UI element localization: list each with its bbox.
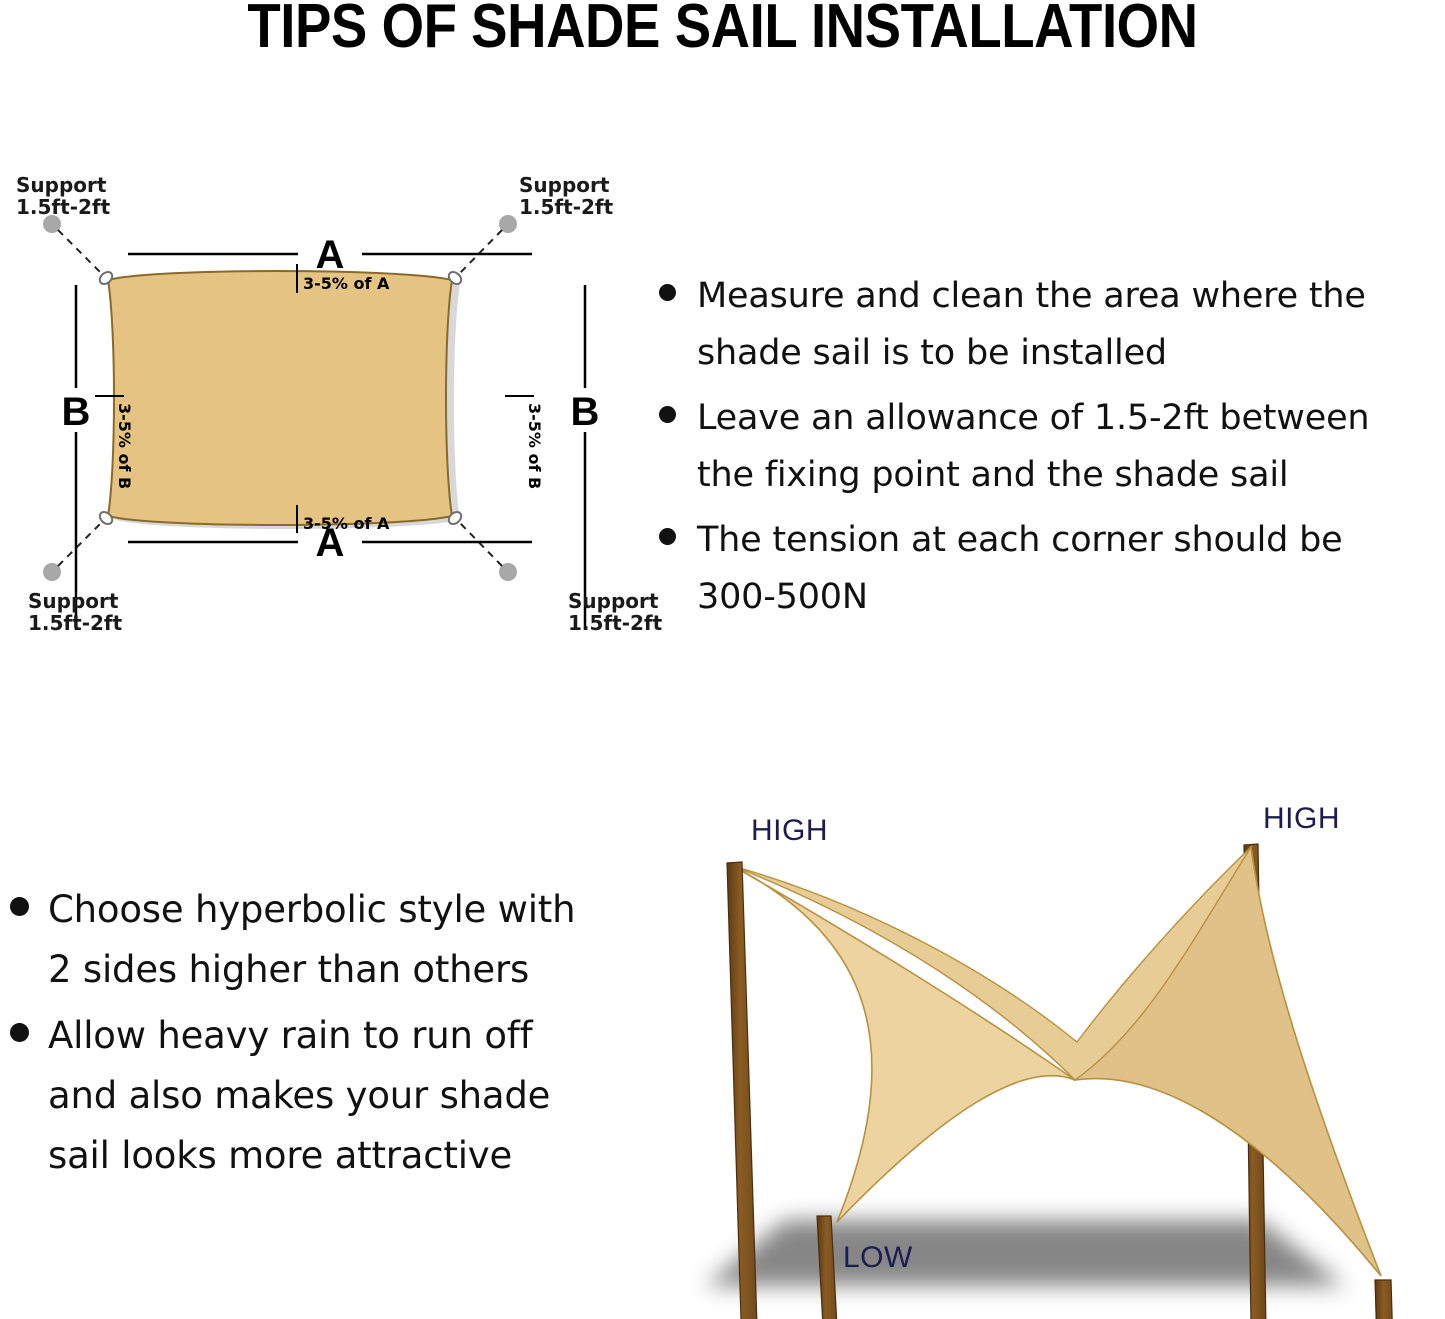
- ground-shadow: [705, 1220, 1345, 1286]
- list-item-line: Leave an allowance of 1.5-2ft between: [697, 390, 1445, 447]
- list-item-line: 2 sides higher than others: [48, 940, 630, 1000]
- rect-diagram-svg: A 3-5% of A A 3-5% of A B 3-5% of B B 3-…: [0, 160, 660, 730]
- support-label-bottom-left-line2: 1.5ft-2ft: [28, 611, 123, 635]
- list-item-line: and also makes your shade: [48, 1066, 630, 1126]
- bullet-dot-icon: [10, 897, 29, 916]
- dimension-b-right-label: B: [571, 390, 600, 434]
- list-item-line: shade sail is to be installed: [697, 325, 1445, 382]
- support-label-top-right-line2: 1.5ft-2ft: [519, 195, 614, 219]
- support-line-top-right: [460, 230, 502, 273]
- support-label-bottom-left-line1: Support: [28, 589, 119, 613]
- list-item-line: sail looks more attractive: [48, 1126, 630, 1186]
- list-item-line: the fixing point and the shade sail: [697, 447, 1445, 504]
- label-high-right: HIGH: [1263, 802, 1340, 835]
- hyperbolic-style-tips-list: Choose hyperbolic style with 2 sides hig…: [0, 880, 630, 1186]
- page-title: TIPS OF SHADE SAIL INSTALLATION: [87, 0, 1359, 58]
- hyperbolic-style-tips-panel: Choose hyperbolic style with 2 sides hig…: [0, 880, 630, 1210]
- list-item: Measure and clean the area where the sha…: [645, 268, 1445, 382]
- list-item-line: Choose hyperbolic style with: [48, 880, 630, 940]
- sail-lobe-left: [733, 866, 1075, 1222]
- curve-b-right-note: 3-5% of B: [525, 403, 544, 489]
- hyper-diagram-svg: HIGH HIGH LOW LOW: [645, 780, 1445, 1319]
- label-low-left: LOW: [843, 1241, 913, 1274]
- list-item-line: 300-500N: [697, 569, 1445, 626]
- post-low-right: [1375, 1280, 1397, 1319]
- label-high-left: HIGH: [751, 814, 828, 847]
- list-item: Choose hyperbolic style with 2 sides hig…: [0, 880, 630, 1000]
- list-item-line: Measure and clean the area where the: [697, 268, 1445, 325]
- list-item-line: Allow heavy rain to run off: [48, 1006, 630, 1066]
- support-line-bottom-left: [58, 523, 101, 566]
- support-label-top-left-line1: Support: [16, 173, 107, 197]
- list-item: The tension at each corner should be 300…: [645, 512, 1445, 626]
- installation-tips-panel: Measure and clean the area where the sha…: [645, 268, 1445, 658]
- bullet-dot-icon: [659, 406, 676, 423]
- list-item: Leave an allowance of 1.5-2ft between th…: [645, 390, 1445, 504]
- support-line-top-left: [58, 230, 101, 273]
- sail-lobe-right: [1075, 847, 1381, 1276]
- installation-tips-list: Measure and clean the area where the sha…: [645, 268, 1445, 626]
- support-label-top-left-line2: 1.5ft-2ft: [16, 195, 111, 219]
- curve-a-bottom-note: 3-5% of A: [303, 514, 390, 533]
- bullet-dot-icon: [10, 1023, 29, 1042]
- support-line-bottom-right: [460, 523, 502, 566]
- rectangular-sail-diagram: A 3-5% of A A 3-5% of A B 3-5% of B B 3-…: [0, 160, 660, 730]
- bullet-dot-icon: [659, 528, 676, 545]
- list-item-line: The tension at each corner should be: [697, 512, 1445, 569]
- dimension-a-top-label: A: [316, 233, 345, 277]
- support-label-top-right-line1: Support: [519, 173, 610, 197]
- list-item: Allow heavy rain to run off and also mak…: [0, 1006, 630, 1186]
- curve-b-left-note: 3-5% of B: [115, 403, 134, 489]
- shade-sail-fabric: [108, 271, 452, 525]
- hyperbolic-sail-diagram: HIGH HIGH LOW LOW: [645, 780, 1445, 1319]
- bullet-dot-icon: [659, 284, 676, 301]
- dimension-b-left-label: B: [62, 390, 91, 434]
- curve-a-top-note: 3-5% of A: [303, 274, 390, 293]
